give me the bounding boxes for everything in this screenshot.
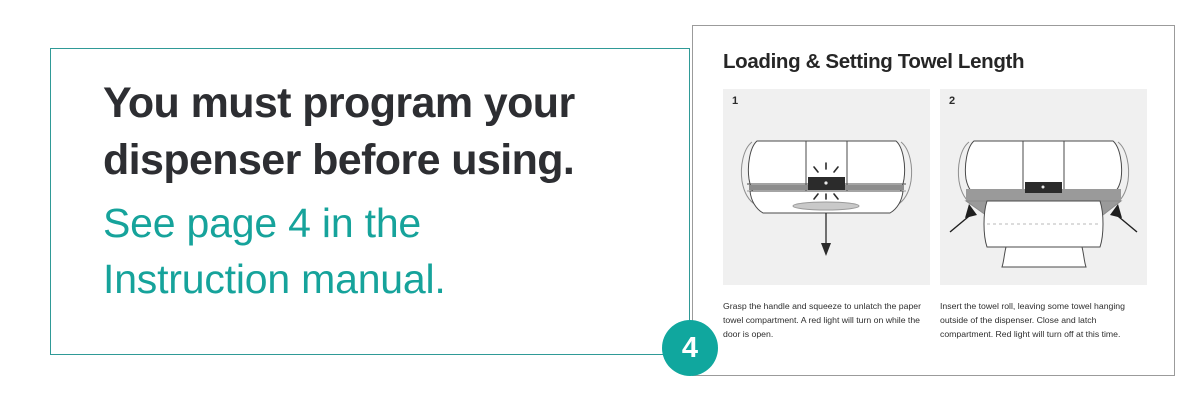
manual-step-1: 1 bbox=[723, 89, 930, 350]
step-number-badge-label: 4 bbox=[682, 334, 698, 363]
manual-page-panel: Loading & Setting Towel Length 1 bbox=[692, 25, 1175, 376]
step-2-caption: Insert the towel roll, leaving some towe… bbox=[940, 299, 1140, 341]
callout-headline: You must program your dispenser before u… bbox=[103, 75, 663, 189]
hanging-towel-icon bbox=[1002, 247, 1086, 267]
down-arrow-icon bbox=[821, 213, 831, 256]
dispenser-loading-roll-icon bbox=[940, 89, 1147, 285]
step-2-number-label: 2 bbox=[949, 95, 955, 107]
step-2-illustration: 2 bbox=[940, 89, 1147, 285]
callout-text-group: You must program your dispenser before u… bbox=[103, 75, 663, 308]
manual-page-title: Loading & Setting Towel Length bbox=[723, 50, 1024, 74]
manual-steps-row: 1 bbox=[723, 89, 1148, 350]
step-1-caption: Grasp the handle and squeeze to unlatch … bbox=[723, 299, 923, 341]
step-1-number-label: 1 bbox=[732, 95, 738, 107]
step-number-badge: 4 bbox=[662, 320, 718, 376]
manual-step-2: 2 bbox=[940, 89, 1147, 350]
callout-subline: See page 4 in the Instruction manual. bbox=[103, 195, 663, 308]
callout-box: You must program your dispenser before u… bbox=[50, 48, 690, 355]
step-1-illustration: 1 bbox=[723, 89, 930, 285]
dispenser-closed-icon bbox=[723, 89, 930, 285]
